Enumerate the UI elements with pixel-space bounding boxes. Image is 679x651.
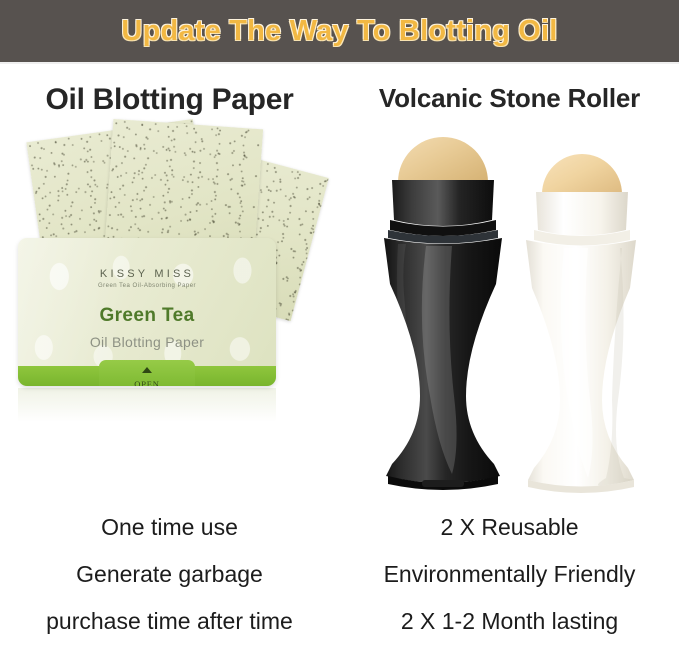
column-volcanic-stone-roller: Volcanic Stone Roller [340, 64, 679, 651]
column-oil-blotting-paper: Oil Blotting Paper KISSY MISS Green Tea … [0, 64, 339, 651]
black-roller-graphic [368, 134, 518, 494]
right-feature-list: 2 X Reusable Environmentally Friendly 2 … [340, 504, 679, 645]
package-text-block: KISSY MISS Green Tea Oil-Absorbing Paper… [18, 268, 276, 350]
package-brand-subtitle: Green Tea Oil-Absorbing Paper [18, 283, 276, 289]
volcanic-stone-dome [542, 154, 622, 198]
black-volcanic-stone-roller [368, 134, 518, 499]
feature-item: Environmentally Friendly [340, 551, 679, 598]
feature-item: One time use [0, 504, 339, 551]
white-roller-graphic [508, 148, 653, 493]
right-product-stage [340, 122, 679, 502]
package-product-subtitle: Oil Blotting Paper [18, 334, 276, 350]
left-feature-list: One time use Generate garbage purchase t… [0, 504, 339, 645]
package-open-tab: OPEN [99, 360, 195, 386]
package-product-title: Green Tea [18, 305, 276, 327]
roller-collar [536, 192, 628, 236]
package-reflection [18, 388, 276, 428]
package-open-label: OPEN [99, 379, 195, 386]
page-title: Update The Way To Blotting Oil [121, 15, 557, 48]
left-column-title: Oil Blotting Paper [0, 83, 339, 117]
feature-item: purchase time after time [0, 598, 339, 645]
open-arrow-icon [142, 367, 152, 373]
right-column-title: Volcanic Stone Roller [340, 83, 679, 114]
feature-item: Generate garbage [0, 551, 339, 598]
left-product-stage: KISSY MISS Green Tea Oil-Absorbing Paper… [0, 122, 339, 502]
volcanic-stone-dome [398, 137, 488, 186]
feature-item: 2 X Reusable [340, 504, 679, 551]
package-brand-name: KISSY MISS [18, 268, 276, 280]
white-volcanic-stone-roller [508, 148, 653, 498]
green-tea-package: KISSY MISS Green Tea Oil-Absorbing Paper… [18, 238, 276, 386]
header-banner: Update The Way To Blotting Oil [0, 0, 679, 62]
roller-collar [392, 180, 494, 226]
roller-base-detail [422, 480, 464, 487]
feature-item: 2 X 1-2 Month lasting [340, 598, 679, 645]
